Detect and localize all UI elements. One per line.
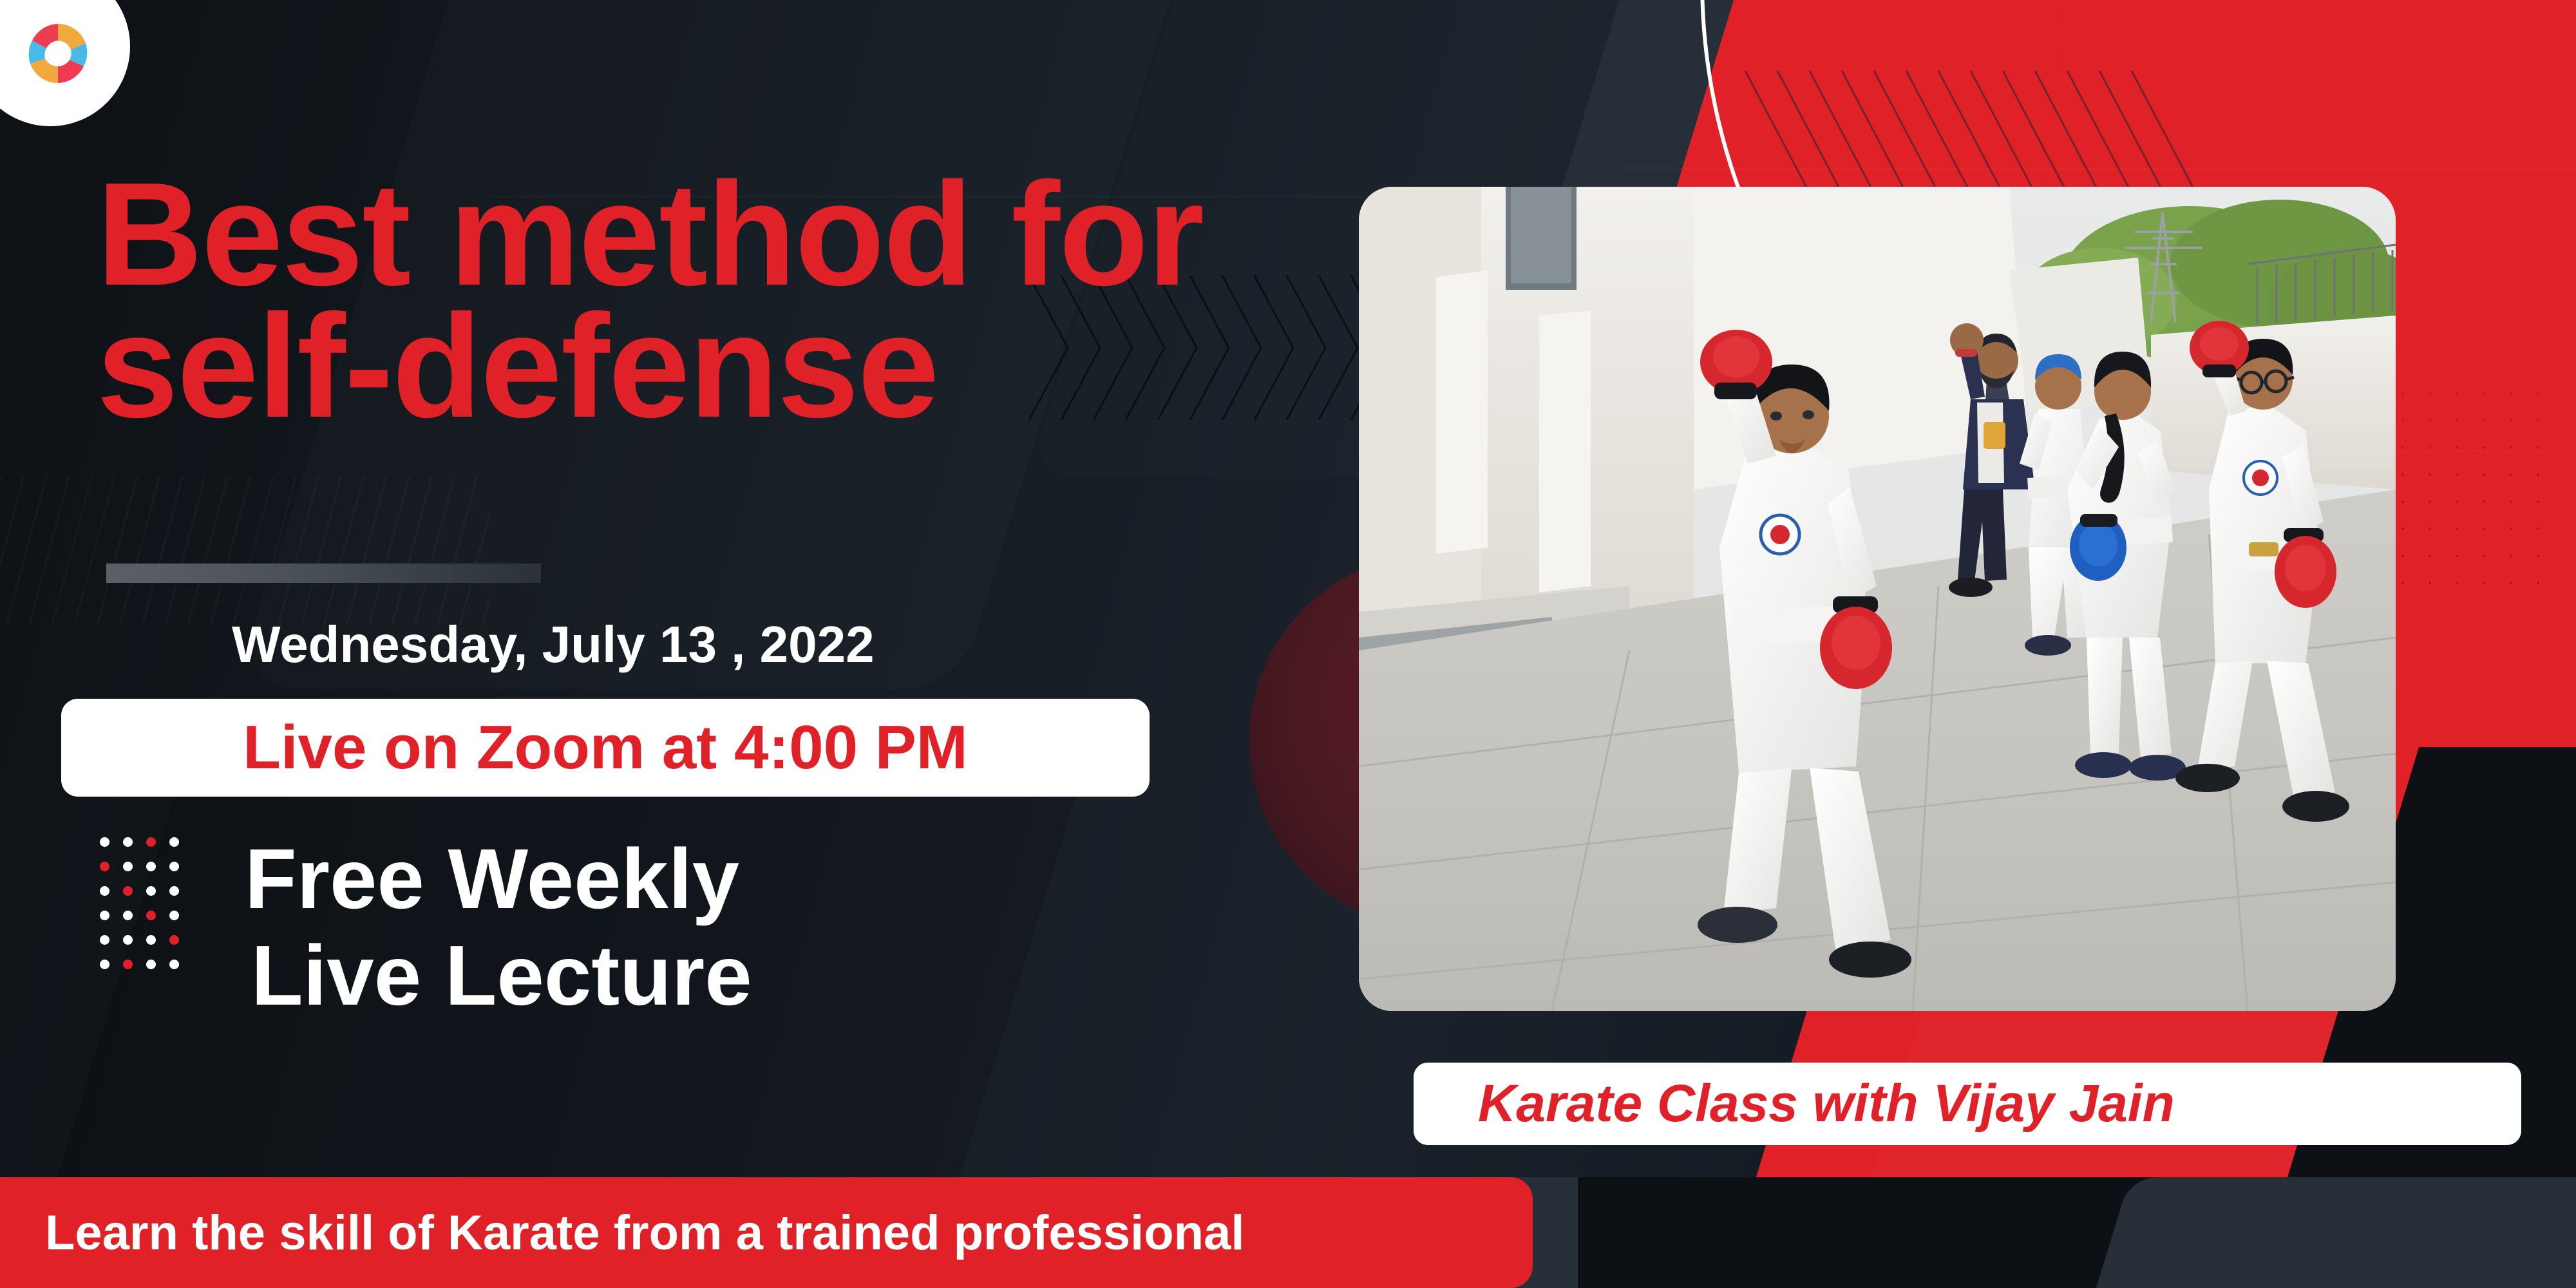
promo-banner: Best method for self-defense Wednesday, … — [0, 0, 2576, 1288]
photo-illustration — [1359, 187, 2396, 1011]
live-session-badge[interactable]: Live on Zoom at 4:00 PM — [61, 699, 1150, 797]
headline-line-2: self-defense — [97, 301, 1481, 433]
dot-grid-dot — [169, 862, 179, 871]
dot-grid-dot — [169, 935, 179, 945]
event-date: Wednesday, July 13 , 2022 — [232, 615, 875, 674]
dot-grid-dot — [169, 911, 179, 920]
title-divider — [106, 563, 541, 583]
karate-class-photo — [1359, 187, 2396, 1011]
dot-grid-dot — [123, 837, 133, 847]
dot-grid-dot — [169, 837, 179, 847]
dot-grid-dot — [146, 886, 156, 896]
offer-line-2: Live Lecture — [245, 927, 752, 1024]
footer-tagline: Learn the skill of Karate from a trained… — [45, 1205, 1244, 1261]
photo-caption-text: Karate Class with Vijay Jain — [1478, 1074, 2175, 1134]
live-session-label: Live on Zoom at 4:00 PM — [243, 712, 968, 783]
dot-grid-dot — [146, 862, 156, 871]
offer-text: Free Weekly Live Lecture — [245, 831, 752, 1025]
dot-grid-dot — [100, 935, 109, 945]
dot-grid-dot — [123, 935, 133, 945]
photo-caption-badge: Karate Class with Vijay Jain — [1414, 1063, 2521, 1145]
dot-grid-dot — [100, 960, 109, 969]
dot-grid-dot — [169, 886, 179, 896]
dot-grid-dot — [146, 837, 156, 847]
dot-grid-dot — [146, 960, 156, 969]
offer-line-1: Free Weekly — [245, 831, 752, 927]
page-title: Best method for self-defense — [97, 169, 1481, 433]
dot-grid-dot — [146, 935, 156, 945]
footer-band-dark-right — [2094, 1177, 2576, 1288]
dot-grid-decoration — [100, 837, 184, 972]
footer-tagline-banner: Learn the skill of Karate from a trained… — [0, 1177, 1533, 1288]
headline-line-1: Best method for — [97, 169, 1481, 301]
dot-grid-dot — [123, 960, 133, 969]
dot-grid-dot — [100, 837, 109, 847]
dot-grid-dot — [169, 960, 179, 969]
dot-grid-dot — [146, 911, 156, 920]
dot-grid-dot — [123, 911, 133, 920]
dot-grid-dot — [123, 862, 133, 871]
dot-grid-dot — [123, 886, 133, 896]
dot-grid-dot — [100, 911, 109, 920]
footer-band-dark — [1578, 1177, 2157, 1288]
swirl-logo-icon — [19, 15, 91, 87]
background-stripes — [0, 477, 489, 625]
dot-grid-dot — [100, 886, 109, 896]
dot-grid-dot — [100, 862, 109, 871]
